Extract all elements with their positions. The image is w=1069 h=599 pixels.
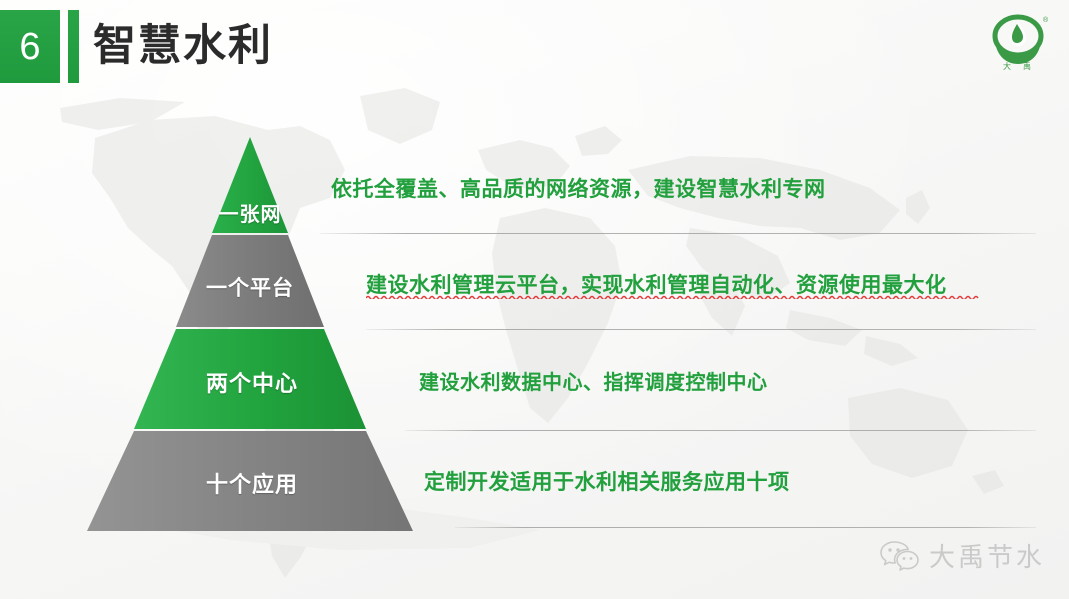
row-separator-3 [455, 527, 1036, 528]
slide-canvas: 6 智慧水利 大 禹 ® [0, 0, 1069, 599]
wechat-icon [879, 539, 919, 573]
description-text-1: 建设水利管理云平台，实现水利管理自动化、资源使用最大化 [366, 269, 947, 299]
slide-number-badge: 6 [0, 10, 60, 83]
svg-text:®: ® [1043, 16, 1049, 24]
slide-header: 6 智慧水利 大 禹 ® [0, 0, 1069, 90]
svg-text:禹: 禹 [1023, 62, 1031, 71]
svg-text:大: 大 [1003, 61, 1011, 71]
watermark-label: 大禹节水 [929, 537, 1045, 574]
row-separator-2 [405, 430, 1036, 431]
dayu-waterdrop-logo-icon: 大 禹 ® [981, 10, 1055, 72]
description-text-3: 定制开发适用于水利相关服务应用十项 [424, 466, 790, 496]
description-text-2: 建设水利数据中心、指挥调度控制中心 [419, 366, 768, 395]
page-title: 智慧水利 [93, 13, 273, 79]
pyramid-tier-3-label: 十个应用 [172, 467, 332, 499]
header-accent-bar [68, 10, 79, 83]
slide-number: 6 [19, 28, 40, 66]
description-text-0: 依托全覆盖、高品质的网络资源，建设智慧水利专网 [331, 173, 826, 203]
pyramid-tier-1-label: 一个平台 [175, 272, 325, 302]
wechat-watermark: 大禹节水 [879, 537, 1045, 574]
pyramid-tier-2-label: 两个中心 [172, 366, 332, 398]
pyramid-tier-0-label: 一张网 [180, 198, 320, 227]
